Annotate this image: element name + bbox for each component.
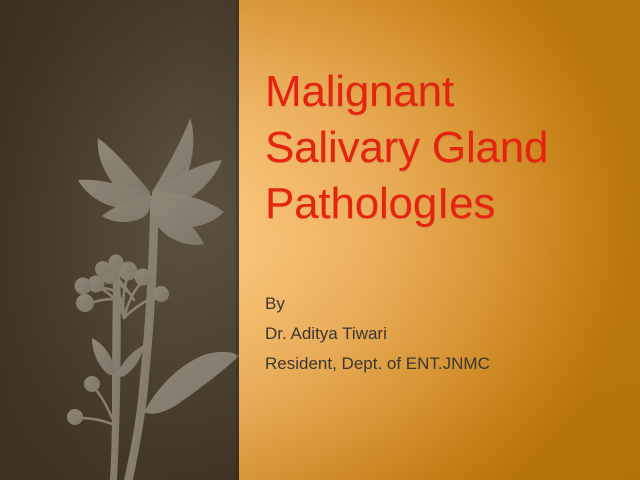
title-line-1: Malignant [265, 64, 625, 120]
subtitle-line-byline: By [265, 289, 615, 319]
slide-subtitle: By Dr. Aditya Tiwari Resident, Dept. of … [265, 289, 615, 379]
subtitle-line-affiliation: Resident, Dept. of ENT.JNMC [265, 349, 615, 379]
panel-right-edge [236, 0, 239, 480]
slide-title: Malignant Salivary Gland PathologIes [265, 64, 625, 232]
decorative-left-panel [0, 0, 239, 480]
subtitle-line-author: Dr. Aditya Tiwari [265, 319, 615, 349]
plant-silhouette-icon [0, 0, 239, 480]
title-line-3: PathologIes [265, 176, 625, 232]
title-line-2: Salivary Gland [265, 120, 625, 176]
presentation-title-slide: Malignant Salivary Gland PathologIes By … [0, 0, 640, 480]
